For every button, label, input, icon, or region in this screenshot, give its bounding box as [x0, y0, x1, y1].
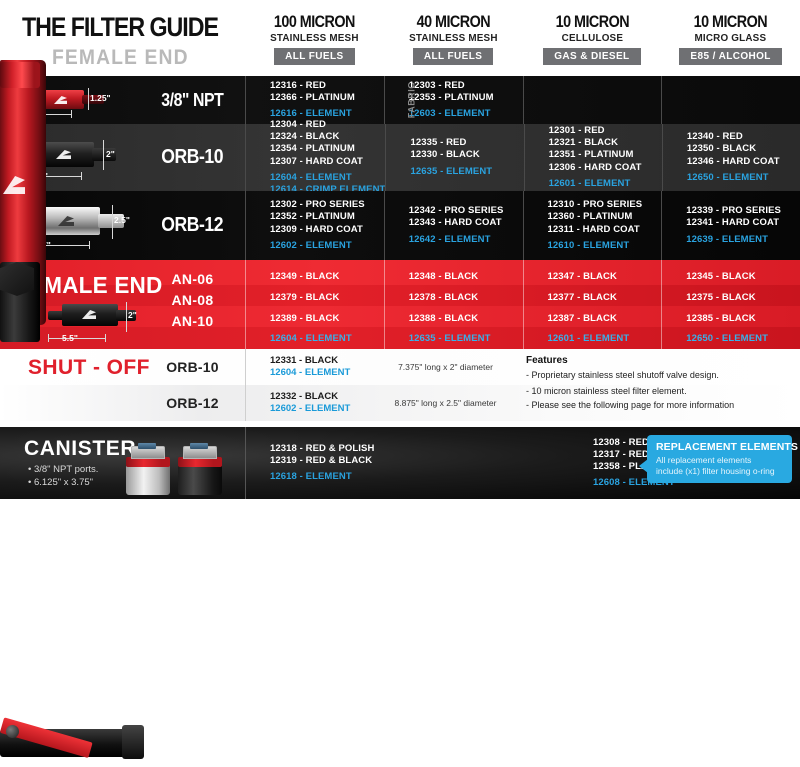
section-title-shutoff: SHUT - OFF: [28, 356, 150, 380]
part-number: 12343 - HARD COAT: [409, 217, 523, 229]
column-header-40-micron: 40 MICRON STAINLESS MESH ALL FUELS: [384, 0, 523, 76]
cell-orb12-40-micron: 12342 - PRO SERIES 12343 - HARD COAT 126…: [384, 191, 523, 260]
canister-spec-item: • 3/8" NPT ports.: [28, 463, 98, 476]
part-number: 12309 - HARD COAT: [270, 224, 384, 236]
male-end-section: MALE END 5.5" 2" AN-06 AN-08 AN-10: [0, 260, 800, 349]
part-number-element: 12604 - ELEMENT: [270, 333, 352, 345]
canister-spec-item: • 6.125" x 3.75": [28, 476, 98, 489]
replacement-elements-callout: REPLACEMENT ELEMENTS All replacement ele…: [647, 435, 792, 483]
column-micron-label: 40 MICRON: [393, 14, 514, 31]
row-label-text: 3/8" NPT: [161, 90, 223, 111]
part-number: 12351 - PLATINUM: [549, 149, 662, 161]
part-number: 12335 - RED: [410, 137, 523, 149]
row-label-npt: 3/8" NPT: [140, 76, 245, 124]
cell-npt-40-micron: FABRIC 12303 - RED 12353 - PLATINUM 1260…: [384, 76, 523, 124]
cell-npt-10-micron-cellulose: [523, 76, 662, 124]
part-number: 12387 - BLACK: [548, 313, 617, 325]
table-row-orb12: 7" 2.5" ORB-12 12302 - PRO SERIES 12352 …: [0, 191, 800, 260]
table-row-orb10: 5.5" 2" ORB-10 12304 - RED 12324 - BLACK…: [0, 124, 800, 191]
part-number: 12306 - HARD COAT: [549, 162, 662, 174]
part-number: 12378 - BLACK: [409, 292, 478, 304]
page-title: THE FILTER GUIDE: [22, 12, 218, 43]
row-label-orb10: ORB-10: [140, 124, 245, 191]
male-cell-10-micron-micro-glass: 12345 - BLACK 12375 - BLACK 12385 - BLAC…: [661, 260, 800, 349]
part-number: 12354 - PLATINUM: [270, 143, 385, 155]
size-label-an08: AN-08: [140, 292, 245, 308]
part-number: 12340 - RED: [687, 131, 800, 143]
shutoff-photo-area: SHUT - OFF: [0, 349, 140, 385]
column-header-100-micron: 100 MICRON STAINLESS MESH ALL FUELS: [245, 0, 384, 76]
shutoff-features-block-2: - 10 micron stainless steel filter eleme…: [518, 385, 800, 421]
part-number: 12349 - BLACK: [270, 271, 339, 283]
column-micron-label: 100 MICRON: [254, 14, 375, 31]
part-number: 12318 - RED & POLISH: [270, 443, 407, 455]
column-micron-label: 10 MICRON: [670, 14, 791, 31]
column-fuel-badge: E85 / ALCOHOL: [679, 48, 781, 65]
canister-unit-polish: [126, 447, 170, 495]
part-number: 12316 - RED: [270, 80, 384, 92]
part-number-element: 12642 - ELEMENT: [409, 234, 523, 246]
dimension-diameter-orb10: 2": [106, 149, 115, 159]
part-number: 12303 - RED: [409, 80, 523, 92]
feature-item: - Proprietary stainless steel shutoff va…: [526, 370, 719, 380]
canister-spec-list: • 3/8" NPT ports. • 6.125" x 3.75": [28, 463, 98, 489]
part-number: 12342 - PRO SERIES: [409, 205, 523, 217]
cell-orb12-10-micron-cellulose: 12310 - PRO SERIES 12360 - PLATINUM 1231…: [523, 191, 662, 260]
cell-orb10-10-micron-cellulose: 12301 - RED 12321 - BLACK 12351 - PLATIN…: [524, 124, 662, 191]
male-cell-10-micron-cellulose: 12347 - BLACK 12377 - BLACK 12387 - BLAC…: [523, 260, 662, 349]
part-number: 12348 - BLACK: [409, 271, 478, 283]
part-number: 12375 - BLACK: [686, 292, 755, 304]
callout-line-1: All replacement elements: [656, 455, 784, 466]
callout-title: REPLACEMENT ELEMENTS: [656, 441, 784, 453]
cell-orb10-10-micron-micro-glass: 12340 - RED 12350 - BLACK 12346 - HARD C…: [662, 124, 800, 191]
shutoff-size-label-orb10: ORB-10: [140, 349, 245, 385]
part-number: 12352 - PLATINUM: [270, 211, 384, 223]
part-number: 12307 - HARD COAT: [270, 156, 385, 168]
product-photo-red-filter-cap: [0, 62, 40, 88]
part-number: 12377 - BLACK: [548, 292, 617, 304]
feature-item: - 10 micron stainless steel filter eleme…: [526, 386, 687, 396]
cell-orb10-40-micron: 12335 - RED 12330 - BLACK 12635 - ELEMEN…: [385, 124, 523, 191]
section-title-canister: CANISTER: [24, 437, 136, 461]
part-number: 12319 - RED & BLACK: [270, 455, 407, 467]
size-label-an10: AN-10: [140, 313, 245, 329]
part-number-element: 12650 - ELEMENT: [686, 333, 768, 345]
canister-cell-empty: [407, 427, 569, 499]
part-number-element: 12601 - ELEMENT: [548, 333, 630, 345]
cell-orb12-10-micron-micro-glass: 12339 - PRO SERIES 12341 - HARD COAT 126…: [661, 191, 800, 260]
canister-cell-10-micron: 12308 - RED & POLISH 12317 - RED & BLACK…: [569, 427, 800, 499]
canister-unit-black: [178, 447, 222, 495]
shutoff-part-cell-orb12: 12332 - BLACK 12602 - ELEMENT: [245, 385, 373, 421]
part-number: 12379 - BLACK: [270, 292, 339, 304]
row-label-text: ORB-10: [162, 146, 224, 169]
part-number: 12310 - PRO SERIES: [548, 199, 662, 211]
shutoff-photo-area-2: [0, 385, 140, 421]
callout-line-2: include (x1) filter housing o-ring: [656, 466, 784, 477]
column-headers: 100 MICRON STAINLESS MESH ALL FUELS 40 M…: [245, 0, 800, 76]
female-end-table: 3.5" 1.25" 3/8" NPT 12316 - RED 12366 - …: [0, 76, 800, 260]
part-number: 12339 - PRO SERIES: [686, 205, 800, 217]
male-cell-100-micron: 12349 - BLACK 12379 - BLACK 12389 - BLAC…: [245, 260, 384, 349]
part-number-element: 12635 - ELEMENT: [410, 166, 523, 178]
dimension-length-an: 5.5": [62, 333, 78, 343]
part-number: 12324 - BLACK: [270, 131, 385, 143]
part-number: 12346 - HARD COAT: [687, 156, 800, 168]
part-number: 12388 - BLACK: [409, 313, 478, 325]
part-number: 12321 - BLACK: [549, 137, 662, 149]
column-micron-label: 10 MICRON: [532, 14, 653, 31]
shutoff-dimension-orb10: 7.375" long x 2" diameter: [373, 349, 518, 385]
part-number-element: 12650 - ELEMENT: [687, 172, 800, 184]
part-number-element: 12603 - ELEMENT: [409, 108, 523, 120]
part-number: 12347 - BLACK: [548, 271, 617, 283]
part-number: 12341 - HARD COAT: [686, 217, 800, 229]
table-row-npt: 3.5" 1.25" 3/8" NPT 12316 - RED 12366 - …: [0, 76, 800, 124]
cell-npt-100-micron: 12316 - RED 12366 - PLATINUM 12616 - ELE…: [245, 76, 384, 124]
shutoff-part-cell-orb10: 12331 - BLACK 12604 - ELEMENT: [245, 349, 373, 385]
part-number: 12389 - BLACK: [270, 313, 339, 325]
product-photo-canisters: [126, 433, 231, 497]
part-number-element: 12635 - ELEMENT: [409, 333, 491, 345]
features-heading: Features: [526, 355, 568, 366]
cell-npt-10-micron-micro-glass: [661, 76, 800, 124]
size-label-an06: AN-06: [140, 271, 245, 287]
part-number: 12353 - PLATINUM: [409, 92, 523, 104]
canister-cell-100-micron: 12318 - RED & POLISH 12319 - RED & BLACK…: [245, 427, 407, 499]
part-number: 12302 - PRO SERIES: [270, 199, 384, 211]
column-header-10-micron-micro-glass: 10 MICRON MICRO GLASS E85 / ALCOHOL: [661, 0, 800, 76]
canister-left-block: CANISTER • 3/8" NPT ports. • 6.125" x 3.…: [0, 427, 245, 499]
male-end-size-labels: AN-06 AN-08 AN-10: [140, 260, 245, 349]
dimension-diameter-orb12: 2.5": [114, 215, 130, 225]
fabric-vertical-tag: FABRIC: [406, 82, 416, 119]
column-media-label: STAINLESS MESH: [249, 32, 379, 44]
shutoff-row-orb12: ORB-12 12332 - BLACK 12602 - ELEMENT 8.8…: [0, 385, 800, 421]
part-number-element: 12604 - ELEMENT: [270, 172, 385, 184]
part-number: 12345 - BLACK: [686, 271, 755, 283]
cell-orb12-100-micron: 12302 - PRO SERIES 12352 - PLATINUM 1230…: [245, 191, 384, 260]
part-number: 12360 - PLATINUM: [548, 211, 662, 223]
column-media-label: MICRO GLASS: [665, 32, 795, 44]
shutoff-row-orb10: SHUT - OFF ORB-10 12331 - BLACK 12604 - …: [0, 349, 800, 385]
product-photo-an-hex-nut: [0, 262, 34, 296]
filter-guide-sheet: THE FILTER GUIDE FEMALE END 100 MICRON S…: [0, 0, 800, 499]
part-number-element: 12601 - ELEMENT: [549, 178, 662, 190]
part-number-element: 12604 - ELEMENT: [270, 367, 373, 379]
part-number: 12301 - RED: [549, 125, 662, 137]
column-fuel-badge: ALL FUELS: [274, 48, 354, 65]
part-number: 12330 - BLACK: [410, 149, 523, 161]
part-number: 12385 - BLACK: [686, 313, 755, 325]
part-number: 12311 - HARD COAT: [548, 224, 662, 236]
part-number: 12366 - PLATINUM: [270, 92, 384, 104]
part-number: 12331 - BLACK: [270, 355, 373, 367]
row-label-text: ORB-12: [162, 214, 224, 237]
product-photo-shutoff-valve: [0, 715, 148, 767]
feature-item: - Please see the following page for more…: [526, 400, 734, 410]
row-label-orb12: ORB-12: [140, 191, 245, 260]
section-subtitle-female-end: FEMALE END: [52, 46, 189, 70]
shutoff-section: SHUT - OFF ORB-10 12331 - BLACK 12604 - …: [0, 349, 800, 421]
cell-orb10-100-micron: 12304 - RED 12324 - BLACK 12354 - PLATIN…: [245, 124, 385, 191]
part-number: 12304 - RED: [270, 119, 385, 131]
part-number-element: 12618 - ELEMENT: [270, 471, 407, 483]
column-header-10-micron-cellulose: 10 MICRON CELLULOSE GAS & DIESEL: [523, 0, 662, 76]
part-number: 12350 - BLACK: [687, 143, 800, 155]
male-cell-40-micron: 12348 - BLACK 12378 - BLACK 12388 - BLAC…: [384, 260, 523, 349]
canister-section: CANISTER • 3/8" NPT ports. • 6.125" x 3.…: [0, 427, 800, 499]
shutoff-dimension-orb12: 8.875" long x 2.5" diameter: [373, 385, 518, 421]
column-media-label: CELLULOSE: [527, 32, 657, 44]
dimension-diameter-npt: 1.25": [90, 93, 111, 103]
shutoff-features-block: Features - Proprietary stainless steel s…: [518, 349, 800, 385]
part-number-element: 12610 - ELEMENT: [548, 240, 662, 252]
part-number-element: 12602 - ELEMENT: [270, 403, 373, 415]
part-number-element: 12639 - ELEMENT: [686, 234, 800, 246]
shutoff-size-label-orb12: ORB-12: [140, 385, 245, 421]
part-number-element: 12602 - ELEMENT: [270, 240, 384, 252]
column-media-label: STAINLESS MESH: [388, 32, 518, 44]
dimension-diameter-an: 2": [128, 310, 137, 320]
part-number: 12332 - BLACK: [270, 391, 373, 403]
column-fuel-badge: GAS & DIESEL: [543, 48, 640, 65]
column-fuel-badge: ALL FUELS: [413, 48, 493, 65]
